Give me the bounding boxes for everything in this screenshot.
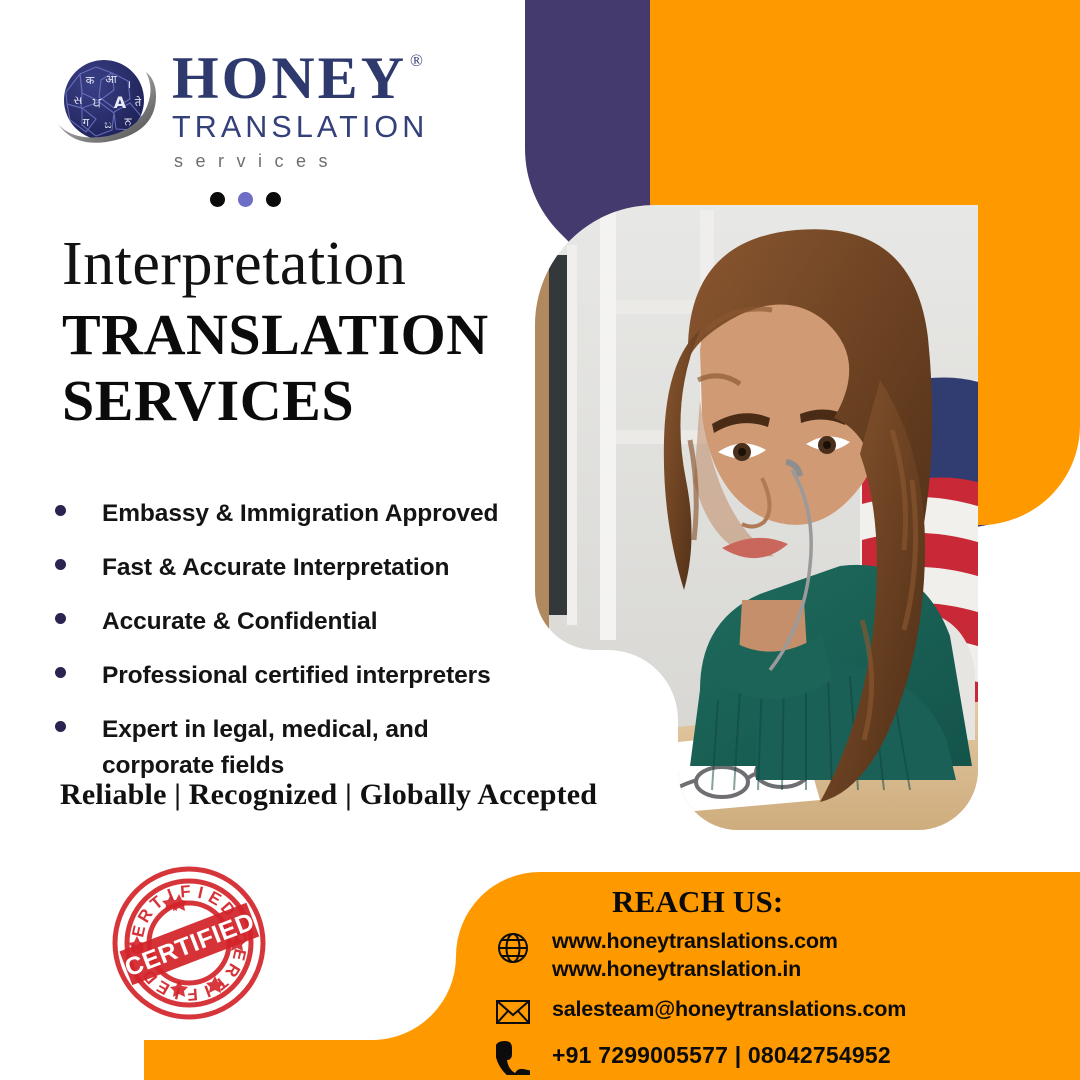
headline-script-line: Interpretation [62, 232, 489, 296]
orange-decor-shape [650, 0, 1080, 525]
svg-text:F: F [180, 882, 192, 902]
phone-values: +91 7299005577 | 08042754952 [534, 1039, 891, 1070]
website-line-2[interactable]: www.honeytranslation.in [552, 956, 838, 984]
logo-dot-1 [210, 192, 225, 207]
poster-canvas: क आ । સ ਪ A ते ग ಬ ਨ HONEY ® TRA [0, 0, 1080, 1080]
website-line-1[interactable]: www.honeytranslations.com [552, 928, 838, 956]
list-item: Expert in legal, medical, and corporate … [55, 712, 525, 784]
svg-text:I: I [196, 883, 205, 903]
feature-list: Embassy & Immigration Approved Fast & Ac… [55, 496, 525, 802]
list-item: Accurate & Confidential [55, 604, 525, 640]
logo-dot-2 [238, 192, 253, 207]
svg-text:ग: ग [83, 116, 90, 129]
contact-row-website[interactable]: www.honeytranslations.com www.honeytrans… [492, 928, 1052, 983]
purple-decor-shape [525, 0, 1080, 528]
phone-numbers[interactable]: +91 7299005577 | 08042754952 [552, 1041, 891, 1070]
svg-text:સ: સ [74, 94, 83, 107]
interpreter-photo [520, 190, 1000, 850]
list-item-label: Professional certified interpreters [102, 658, 491, 694]
tagline: Reliable | Recognized | Globally Accepte… [60, 778, 597, 812]
list-item: Fast & Accurate Interpretation [55, 550, 525, 586]
logo-dot-3 [266, 192, 281, 207]
svg-text:ਨ: ਨ [124, 115, 133, 128]
brand-logo[interactable]: क आ । સ ਪ A ते ग ಬ ਨ HONEY ® TRA [50, 44, 470, 170]
list-item: Embassy & Immigration Approved [55, 496, 525, 532]
contact-row-email[interactable]: salesteam@honeytranslations.com [492, 996, 1052, 1026]
email-values: salesteam@honeytranslations.com [534, 996, 906, 1024]
svg-text:F: F [187, 985, 199, 1005]
svg-text:ಬ: ಬ [104, 118, 111, 131]
headline-bold-line-1: TRANSLATION [62, 302, 489, 368]
bullet-marker-icon [55, 505, 66, 516]
phone-icon [492, 1039, 534, 1075]
globe-icon [492, 928, 534, 966]
contact-title: REACH US: [612, 884, 783, 920]
bullet-marker-icon [55, 613, 66, 624]
svg-text:E: E [128, 924, 149, 939]
svg-text:।: । [127, 78, 131, 91]
headline-bold-block: TRANSLATION SERVICES [62, 302, 489, 433]
list-item-label: Accurate & Confidential [102, 604, 377, 640]
list-item: Professional certified interpreters [55, 658, 525, 694]
svg-text:ते: ते [135, 96, 142, 109]
svg-text:A: A [114, 93, 127, 112]
email-address[interactable]: salesteam@honeytranslations.com [552, 996, 906, 1024]
contact-list: www.honeytranslations.com www.honeytrans… [492, 928, 1052, 1080]
svg-text:क: क [86, 74, 95, 87]
list-item-label: Fast & Accurate Interpretation [102, 550, 449, 586]
logo-line-services: services [174, 152, 428, 170]
bullet-marker-icon [55, 559, 66, 570]
svg-text:ਪ: ਪ [92, 96, 102, 111]
logo-wordmark: HONEY [172, 50, 407, 107]
headline-bold-line-2: SERVICES [62, 368, 489, 434]
svg-text:आ: आ [105, 73, 117, 86]
bullet-marker-icon [55, 667, 66, 678]
certified-stamp-icon: C E R T I F I E D C E R T I F I E D [105, 864, 273, 1022]
logo-dots [210, 192, 281, 207]
headline-block: Interpretation TRANSLATION SERVICES [62, 232, 489, 434]
list-item-label: Expert in legal, medical, and corporate … [102, 712, 442, 784]
globe-languages-icon: क आ । સ ਪ A ते ग ಬ ਨ [50, 48, 162, 152]
bullet-marker-icon [55, 721, 66, 732]
list-item-label: Embassy & Immigration Approved [102, 496, 498, 532]
logo-line-translation: TRANSLATION [172, 112, 428, 143]
envelope-icon [492, 996, 534, 1026]
registered-mark: ® [410, 52, 423, 69]
website-values: www.honeytranslations.com www.honeytrans… [534, 928, 838, 983]
contact-row-phone[interactable]: +91 7299005577 | 08042754952 [492, 1039, 1052, 1075]
